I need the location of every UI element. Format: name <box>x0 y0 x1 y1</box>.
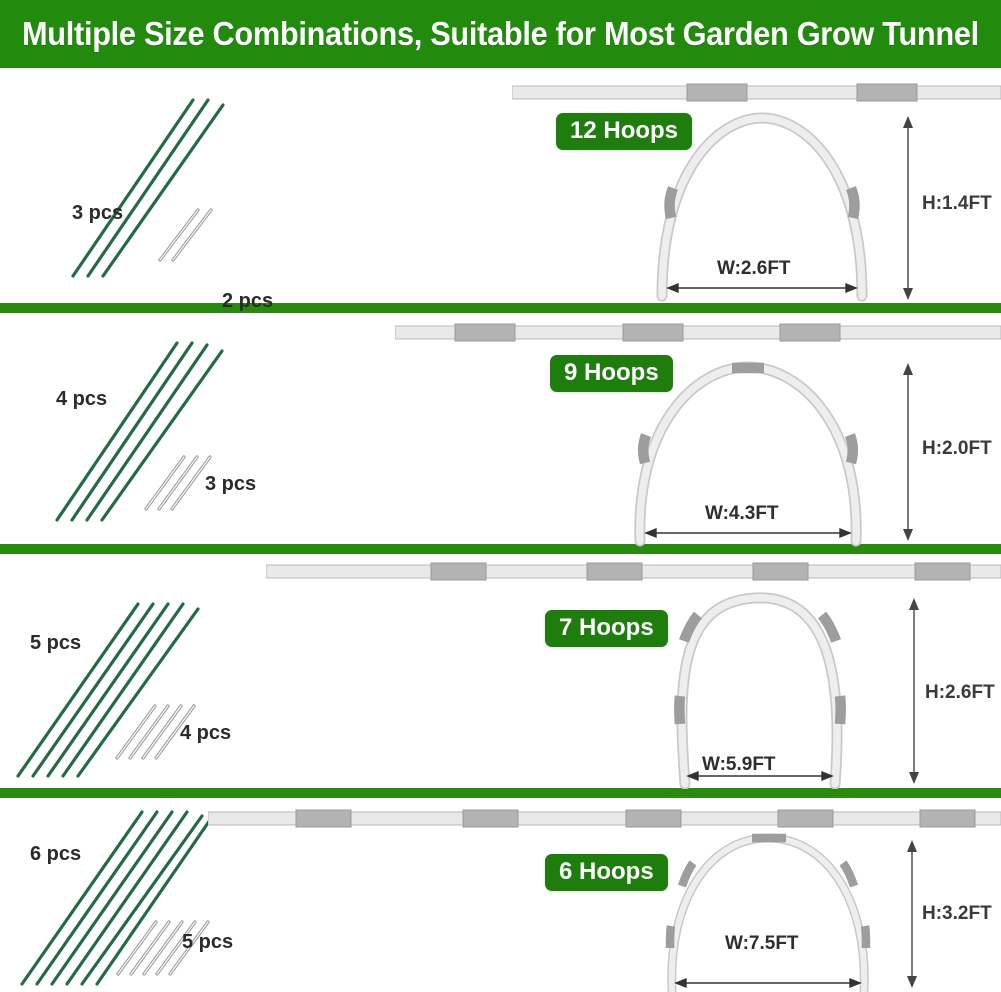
header-banner: Multiple Size Combinations, Suitable for… <box>0 0 1001 68</box>
connector-count-label-row2: 3 pcs <box>205 473 256 496</box>
height-label-row4: H:3.2FT <box>922 903 992 925</box>
green-rods-count-label-row4: 6 pcs <box>30 843 81 866</box>
parts-group-row2: 4 pcs 3 pcs <box>0 313 330 544</box>
row-7-hoops: 5 pcs 4 pcs 7 Hoops <box>0 554 1001 788</box>
hoop-arch-row3 <box>650 584 920 789</box>
row-divider-3 <box>0 788 1001 798</box>
height-dimension-arrow-row4 <box>900 838 924 990</box>
parts-group-row3: 5 pcs 4 pcs <box>0 554 330 788</box>
arch-connector-segments-row4 <box>670 838 866 948</box>
width-label-row1: W:2.6FT <box>717 258 791 280</box>
hoop-arch-row4 <box>640 830 930 992</box>
assembled-rail-row4 <box>208 808 1001 830</box>
product-infographic: Multiple Size Combinations, Suitable for… <box>0 0 1001 992</box>
arch-connector-segments-row1 <box>670 188 855 218</box>
connector-count-label-row3: 4 pcs <box>180 722 231 745</box>
page-title: Multiple Size Combinations, Suitable for… <box>22 15 979 53</box>
height-dimension-arrow-row3 <box>902 596 926 786</box>
height-dimension-arrow-row1 <box>896 114 920 302</box>
height-label-row2: H:2.0FT <box>922 438 992 460</box>
assembled-rail-row2 <box>395 322 1001 344</box>
height-dimension-arrow-row2 <box>896 361 920 543</box>
assembled-rail-row3 <box>266 561 1001 583</box>
parts-group-row1: 3 pcs 2 pcs <box>0 68 320 303</box>
width-label-row4: W:7.5FT <box>725 933 799 955</box>
width-dimension-arrow-row1 <box>668 284 856 292</box>
width-dimension-arrow-row4 <box>676 979 860 987</box>
green-rods-count-label-row1: 3 pcs <box>72 202 123 225</box>
connector-rods-illustration-row1 <box>140 198 250 273</box>
width-dimension-arrow-row2 <box>646 529 850 537</box>
connector-count-label-row1: 2 pcs <box>222 290 273 313</box>
height-label-row3: H:2.6FT <box>925 682 995 704</box>
green-rods-count-label-row2: 4 pcs <box>56 388 107 411</box>
connector-count-label-row4: 5 pcs <box>182 931 233 954</box>
row-6-hoops: 6 pcs 5 pcs 6 Hoops <box>0 798 1001 992</box>
width-label-row2: W:4.3FT <box>705 503 779 525</box>
green-rods-count-label-row3: 5 pcs <box>30 632 81 655</box>
row-9-hoops: 4 pcs 3 pcs 9 Hoops W:4.3FT <box>0 313 1001 544</box>
row-12-hoops: 3 pcs 2 pcs 12 Hoops W:2.6FT <box>0 68 1001 303</box>
width-label-row3: W:5.9FT <box>702 754 776 776</box>
height-label-row1: H:1.4FT <box>922 193 992 215</box>
assembled-rail-row1 <box>512 82 1001 104</box>
row-divider-1 <box>0 303 1001 313</box>
